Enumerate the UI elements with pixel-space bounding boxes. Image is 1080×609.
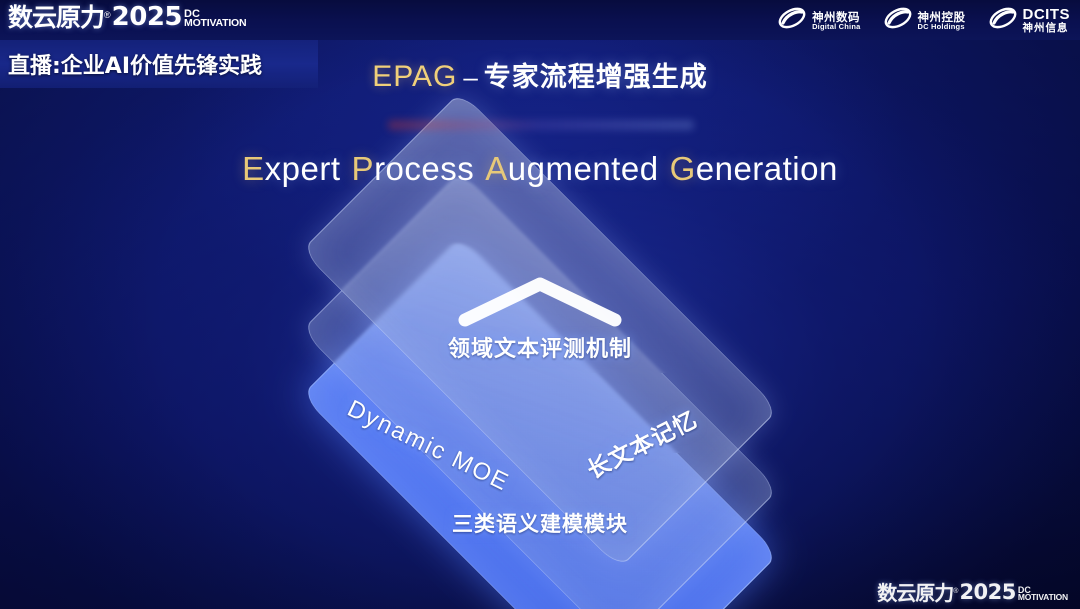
event-logo-dc: DC MOTIVATION xyxy=(184,9,246,29)
subtitle-rest: xpert xyxy=(265,150,341,187)
partner-labels: 神州控股 DC Holdings xyxy=(918,11,966,31)
stack-label-bottom: 三类语义建模模块 xyxy=(0,508,1080,538)
partner-logo-group: 神州数码 Digital China 神州控股 DC Holdings xyxy=(777,5,1070,36)
watermark-logo-cn: 数云原力 xyxy=(877,583,953,603)
watermark-logo: 数云原力 ® 2025 DC MOTIVATION xyxy=(877,582,1068,603)
watermark-logo-dc: DC MOTIVATION xyxy=(1018,586,1068,602)
page-subtitle: ExpertProcessAugmentedGeneration xyxy=(0,150,1080,188)
watermark-logo-dc-line2: MOTIVATION xyxy=(1018,594,1068,602)
subtitle-capital: A xyxy=(485,150,508,187)
event-logo-year: 2025 xyxy=(112,4,182,30)
event-logo-dc-line2: MOTIVATION xyxy=(184,19,246,29)
event-logo: 数云原力 ® 2025 DC MOTIVATION xyxy=(8,4,246,30)
live-banner: 直播:企业AI价值先锋实践 xyxy=(0,40,318,88)
partner-logo-digital-china: 神州数码 Digital China xyxy=(777,5,860,36)
swoosh-icon xyxy=(988,5,1018,36)
partner-name-cn: DCITS xyxy=(1023,7,1071,23)
title-acronym: EPAG xyxy=(372,60,457,93)
swoosh-icon xyxy=(883,5,913,36)
stack-label-top: 领域文本评测机制 xyxy=(0,331,1080,363)
event-logo-cn: 数云原力 xyxy=(8,5,104,30)
subtitle-word-augmented: Augmented xyxy=(485,150,658,187)
partner-labels: 神州数码 Digital China xyxy=(812,11,860,31)
subtitle-rest: rocess xyxy=(374,150,474,187)
partner-labels: DCITS 神州信息 xyxy=(1023,7,1071,34)
live-banner-text: 直播:企业AI价值先锋实践 xyxy=(0,48,262,80)
subtitle-capital: P xyxy=(352,150,375,187)
subtitle-rest: ugmented xyxy=(508,150,659,187)
subtitle-capital: G xyxy=(670,150,696,187)
registered-mark: ® xyxy=(953,588,958,595)
title-divider xyxy=(392,123,690,127)
partner-name-cn: 神州控股 xyxy=(918,11,966,23)
subtitle-word-expert: Expert xyxy=(242,150,340,187)
partner-name-en: Digital China xyxy=(812,23,860,31)
partner-logo-dcits: DCITS 神州信息 xyxy=(988,5,1071,36)
subtitle-rest: eneration xyxy=(696,150,838,187)
partner-name-en: 神州信息 xyxy=(1023,23,1071,34)
registered-mark: ® xyxy=(104,11,111,20)
partner-name-en: DC Holdings xyxy=(918,23,966,31)
swoosh-icon xyxy=(777,5,807,36)
partner-logo-dc-holdings: 神州控股 DC Holdings xyxy=(883,5,966,36)
partner-name-cn: 神州数码 xyxy=(812,11,860,23)
watermark-logo-year: 2025 xyxy=(959,582,1015,603)
slide-canvas: 数云原力 ® 2025 DC MOTIVATION 直播:企业AI价值先锋实践 … xyxy=(0,0,1080,609)
subtitle-capital: E xyxy=(242,150,265,187)
title-chinese: 专家流程增强生成 xyxy=(484,62,708,93)
title-dash: – xyxy=(457,62,483,92)
subtitle-word-generation: Generation xyxy=(670,150,838,187)
subtitle-word-process: Process xyxy=(352,150,475,187)
